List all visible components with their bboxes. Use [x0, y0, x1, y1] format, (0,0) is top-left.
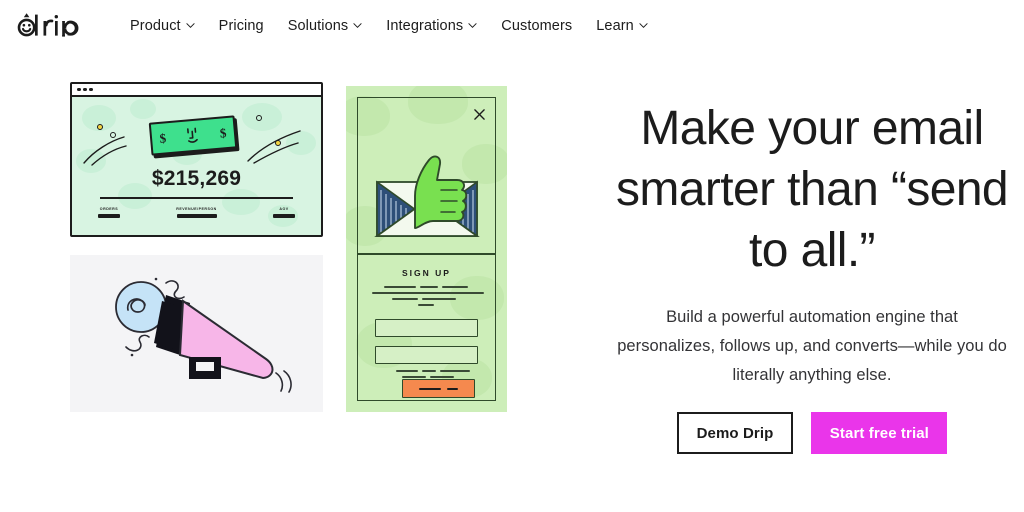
placeholder-text-line [420, 286, 438, 288]
button-label-bar [419, 388, 441, 390]
start-free-trial-button[interactable]: Start free trial [811, 412, 947, 454]
signup-illustration-card: SIGN UP [346, 86, 507, 412]
signup-input-field-1[interactable] [375, 319, 478, 337]
dashboard-body: $ $ $215,269 ORDERS [72, 97, 321, 237]
button-label-bar [447, 388, 458, 390]
placeholder-text-line [442, 286, 468, 288]
browser-title-bar [72, 84, 321, 97]
stat-orders: ORDERS [98, 207, 120, 218]
landing-page: Product Pricing Solutions Integrations [0, 0, 1024, 512]
cta-button-row: Demo Drip Start free trial [677, 412, 948, 454]
coin-icon [97, 124, 103, 130]
window-dot-icon [77, 88, 81, 92]
placeholder-text-line [422, 370, 436, 372]
stat-value-bar [177, 214, 217, 218]
placeholder-text-line [392, 298, 418, 300]
coin-icon [275, 140, 281, 146]
ring-icon [256, 115, 262, 121]
dollar-sign-left: $ [159, 130, 167, 147]
demo-drip-button[interactable]: Demo Drip [677, 412, 794, 454]
window-dot-icon [83, 88, 87, 92]
placeholder-text-line [402, 376, 426, 378]
signup-title: SIGN UP [358, 268, 495, 278]
dashboard-illustration-card: $ $ $215,269 ORDERS [70, 82, 323, 237]
bill-face-icon [180, 122, 206, 148]
divider [358, 253, 495, 255]
dollar-bill-icon: $ $ [149, 115, 238, 155]
dollar-sign-right: $ [219, 125, 227, 142]
decorative-blob [130, 99, 156, 119]
placeholder-text-line [422, 298, 456, 300]
placeholder-text-line [418, 304, 434, 306]
signup-modal-frame: SIGN UP [357, 97, 496, 401]
placeholder-text-line [430, 376, 454, 378]
stat-label: REVENUE/PERSON [176, 207, 217, 211]
megaphone-illustration-icon [70, 255, 323, 412]
stat-value-bar [273, 214, 295, 218]
placeholder-text-line [384, 286, 416, 288]
stat-aov: AOV [273, 207, 295, 218]
stat-revenue-per-person: REVENUE/PERSON [176, 207, 217, 218]
stats-row: ORDERS REVENUE/PERSON AOV [98, 207, 295, 218]
revenue-amount: $215,269 [72, 167, 321, 191]
megaphone-illustration-card [70, 255, 323, 412]
hero-subheading: Build a powerful automation engine that … [617, 303, 1007, 390]
placeholder-text-line [396, 370, 418, 372]
placeholder-text-line [372, 292, 484, 294]
motion-lines-icon [244, 125, 306, 167]
stat-label: ORDERS [100, 207, 118, 211]
window-dot-icon [89, 88, 93, 92]
envelope-thumbs-up-icon [371, 150, 483, 242]
signup-input-field-2[interactable] [375, 346, 478, 364]
stat-value-bar [98, 214, 120, 218]
signup-submit-button[interactable] [402, 379, 475, 398]
stat-label: AOV [279, 207, 288, 211]
close-icon[interactable] [474, 107, 485, 118]
placeholder-text-line [440, 370, 470, 372]
page-title: Make your email smarter than “send to al… [612, 98, 1012, 281]
divider [100, 197, 293, 199]
hero-illustration-collage: $ $ $215,269 ORDERS [0, 0, 600, 512]
hero-content: Make your email smarter than “send to al… [600, 0, 1024, 512]
ring-icon [110, 132, 116, 138]
